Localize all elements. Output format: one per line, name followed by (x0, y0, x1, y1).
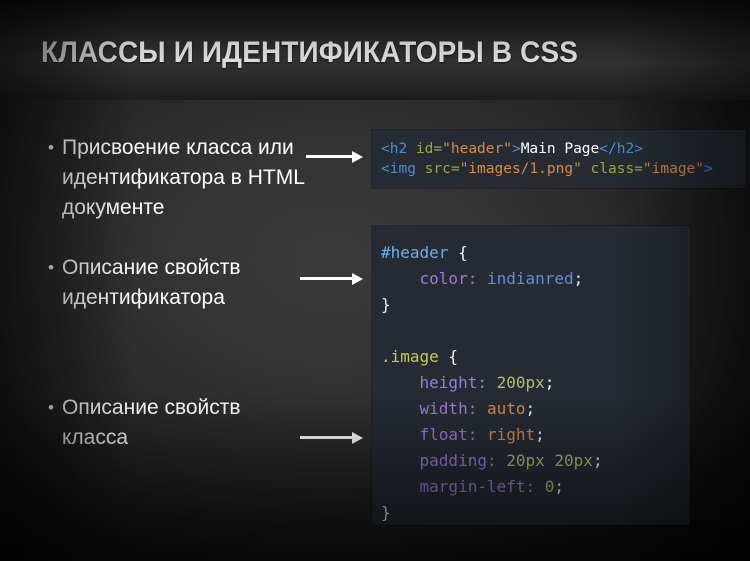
html-tag-close: > (512, 141, 521, 157)
css-semicolon: ; (545, 373, 555, 392)
css-semicolon: ; (554, 477, 564, 496)
html-attr-value: "image" (643, 161, 704, 177)
css-code-snippet: #header { color: indianred;} .image { he… (372, 226, 690, 525)
bullet-text: Описание свойств класса (62, 393, 312, 453)
code-line: <h2 id="header">Main Page</h2> (381, 139, 746, 159)
bullet-marker-icon: • (40, 253, 62, 283)
bullet-text: Описание свойств идентификатора (62, 253, 312, 313)
css-property: margin-left: (420, 477, 536, 496)
css-semicolon: ; (535, 425, 545, 444)
css-semicolon: ; (593, 451, 603, 470)
html-code-snippet: <h2 id="header">Main Page</h2><img src="… (372, 130, 746, 188)
arrow-shaft (300, 436, 354, 439)
bullet-marker-icon: • (40, 133, 62, 163)
css-property: color: (420, 269, 478, 288)
html-tag-end: </h2> (599, 141, 643, 157)
code-line: .image { (381, 344, 690, 370)
html-attr-name: src= (416, 161, 460, 177)
html-attr-name: class= (582, 161, 643, 177)
bullet-marker-icon: • (40, 393, 62, 423)
code-line: } (381, 292, 690, 318)
html-attr-value: "header" (442, 141, 512, 157)
css-value: auto (487, 399, 526, 418)
css-selector: .image (381, 347, 439, 366)
bullet-list: • Присвоение класса или идентификатора в… (0, 0, 370, 561)
code-line: padding: 20px 20px; (381, 448, 690, 474)
css-brace-close: } (381, 295, 391, 314)
html-attr-name: id= (407, 141, 442, 157)
code-line: } (381, 500, 690, 526)
css-value: 200px (497, 373, 545, 392)
code-line: #header { (381, 240, 690, 266)
arrow-head (352, 273, 363, 285)
list-item: • Присвоение класса или идентификатора в… (40, 133, 312, 223)
css-semicolon: ; (526, 399, 536, 418)
html-tag-close: > (704, 161, 713, 177)
code-line: height: 200px; (381, 370, 690, 396)
css-selector: #header (381, 243, 448, 262)
css-value: 20px 20px (506, 451, 593, 470)
html-text-content: Main Page (521, 141, 600, 157)
css-property: float: (420, 425, 478, 444)
code-line: <img src="images/1.png" class="image"> (381, 159, 746, 179)
code-line: width: auto; (381, 396, 690, 422)
css-value: right (487, 425, 535, 444)
presentation-slide: КЛАССЫ И ИДЕНТИФИКАТОРЫ В CSS • Присвоен… (0, 0, 750, 561)
html-tag-open: <h2 (381, 141, 407, 157)
css-property: width: (420, 399, 478, 418)
html-tag-open: <img (381, 161, 416, 177)
code-line-blank (381, 318, 690, 344)
css-brace-open: { (439, 347, 458, 366)
css-semicolon: ; (574, 269, 584, 288)
arrow-shaft (306, 155, 354, 158)
html-attr-value: "images/1.png" (460, 161, 582, 177)
list-item: • Описание свойств класса (40, 393, 312, 453)
code-line: margin-left: 0; (381, 474, 690, 500)
arrow-head (352, 432, 363, 444)
bullet-text: Присвоение класса или идентификатора в H… (62, 133, 312, 223)
css-property: height: (420, 373, 487, 392)
css-brace-close: } (381, 503, 391, 522)
css-property: padding: (420, 451, 497, 470)
list-item: • Описание свойств идентификатора (40, 253, 312, 313)
css-brace-open: { (448, 243, 467, 262)
arrow-head (352, 151, 363, 163)
arrow-shaft (300, 277, 354, 280)
code-line: float: right; (381, 422, 690, 448)
css-value: indianred (487, 269, 574, 288)
css-value: 0 (545, 477, 555, 496)
code-line: color: indianred; (381, 266, 690, 292)
